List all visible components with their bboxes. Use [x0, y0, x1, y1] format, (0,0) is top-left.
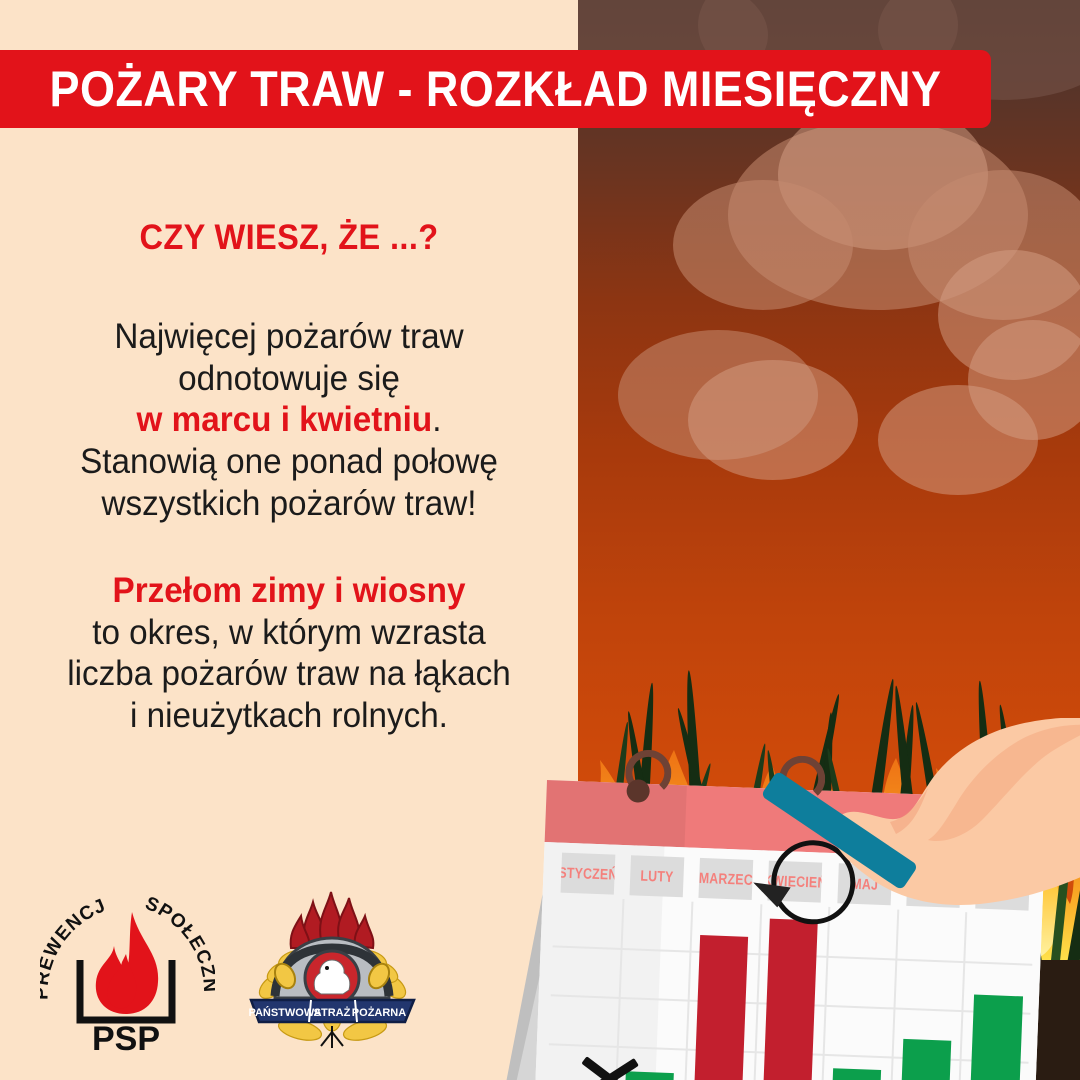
- panstwowa-straz-pozarna-emblem: PAŃSTWOWA STRAŻ POŻARNA: [245, 890, 420, 1050]
- bar-marzec: [694, 935, 748, 1080]
- logo-acronym: PSP: [92, 1020, 160, 1055]
- month-cell-luty: LUTY: [630, 855, 685, 897]
- page-title: POŻARY TRAW - ROZKŁAD MIESIĘCZNY: [50, 60, 942, 118]
- bar-col-lipiec: [962, 912, 1035, 1080]
- paragraph-one-line-5: wszystkich pożarów traw!: [39, 483, 539, 525]
- bar-col-czerwiec: [892, 910, 965, 1080]
- smoke-cloud: [673, 180, 853, 310]
- title-banner: POŻARY TRAW - ROZKŁAD MIESIĘCZNY: [0, 50, 991, 128]
- month-cell-styczen: STYCZEŃ: [561, 853, 616, 895]
- paragraph-one-line-1: Najwięcej pożarów traw: [39, 316, 539, 358]
- infographic-poster: POŻARY TRAW - ROZKŁAD MIESIĘCZNY CZY WIE…: [0, 0, 1080, 1080]
- highlight-przelom-zimy: Przełom zimy i wiosny: [39, 570, 539, 612]
- bar-col-kwiecien: [754, 904, 827, 1080]
- calendar-ring: [624, 749, 672, 807]
- bar-col-maj: [823, 907, 896, 1080]
- paragraph-two: Przełom zimy i wiosny to okres, w którym…: [39, 570, 539, 737]
- month-cell-marzec: MARZEC: [699, 858, 754, 900]
- kicker-heading: CZY WIESZ, ŻE ...?: [44, 218, 533, 258]
- logo-row: PREWENCJA SPOŁECZNA PSP: [40, 890, 440, 1060]
- paragraph-one-period: .: [432, 400, 441, 439]
- bar-col-marzec: [685, 902, 758, 1080]
- emblem-banner-right: POŻARNA: [352, 1006, 406, 1019]
- paragraph-one: Najwięcej pożarów traw odnotowuje się w …: [39, 316, 539, 524]
- x-mark-annotation: [576, 1045, 642, 1080]
- highlight-marzec-kwiecien: w marcu i kwietniu: [137, 400, 433, 439]
- bar-czerwiec: [901, 1039, 952, 1080]
- smoke-cloud: [878, 385, 1038, 495]
- body-copy: CZY WIESZ, ŻE ...? Najwięcej pożarów tra…: [0, 218, 578, 737]
- bar-lipiec: [970, 995, 1023, 1080]
- prewencja-spoleczna-psp-logo: PREWENCJA SPOŁECZNA PSP: [40, 890, 215, 1055]
- smoke-cloud: [688, 360, 858, 480]
- paragraph-two-line-2: to okres, w którym wzrasta: [39, 612, 539, 654]
- bar-maj: [832, 1068, 882, 1080]
- paragraph-one-line-2: odnotowuje się: [39, 358, 539, 400]
- paragraph-two-line-4: i nieużytkach rolnych.: [39, 695, 539, 737]
- emblem-banner-mid: STRAŻ: [314, 1006, 351, 1019]
- paragraph-two-line-3: liczba pożarów traw na łąkach: [39, 653, 539, 695]
- desk-calendar-with-bar-chart: STYCZEŃ LUTY MARZEC KWIECIEŃ MAJ CZERWIE…: [505, 748, 1080, 1080]
- paragraph-one-line-4: Stanowią one ponad połowę: [39, 441, 539, 483]
- bar-kwiecien: [763, 919, 818, 1080]
- paragraph-one-line-3: w marcu i kwietniu.: [39, 399, 539, 441]
